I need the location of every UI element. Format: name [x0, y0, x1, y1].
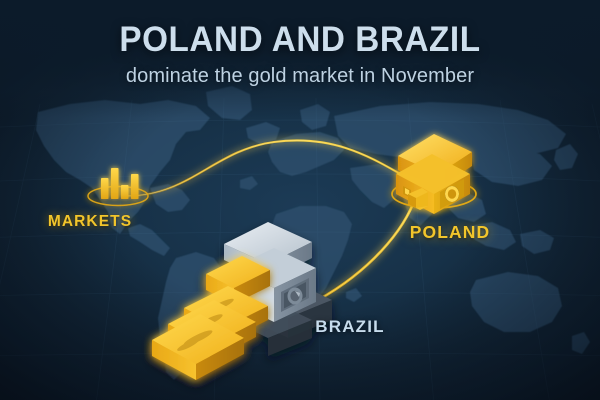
markets-label: MARKETS	[0, 214, 180, 230]
poland-node[interactable]	[372, 128, 502, 224]
page-title: POLAND AND BRAZIL	[15, 22, 585, 57]
header: POLAND AND BRAZIL dominate the gold mark…	[0, 22, 600, 86]
page-subtitle: dominate the gold market in November	[0, 66, 600, 86]
brazil-node[interactable]	[118, 212, 348, 372]
markets-node[interactable]	[78, 160, 158, 212]
arc-markets-to-poland	[126, 140, 404, 196]
poland-label: POLAND	[370, 224, 530, 242]
infographic-canvas: MARKETS	[0, 0, 600, 400]
brazil-label: BRAZIL	[250, 318, 450, 335]
gold-vault-icon	[396, 134, 472, 214]
bar-chart-icon	[101, 168, 139, 199]
